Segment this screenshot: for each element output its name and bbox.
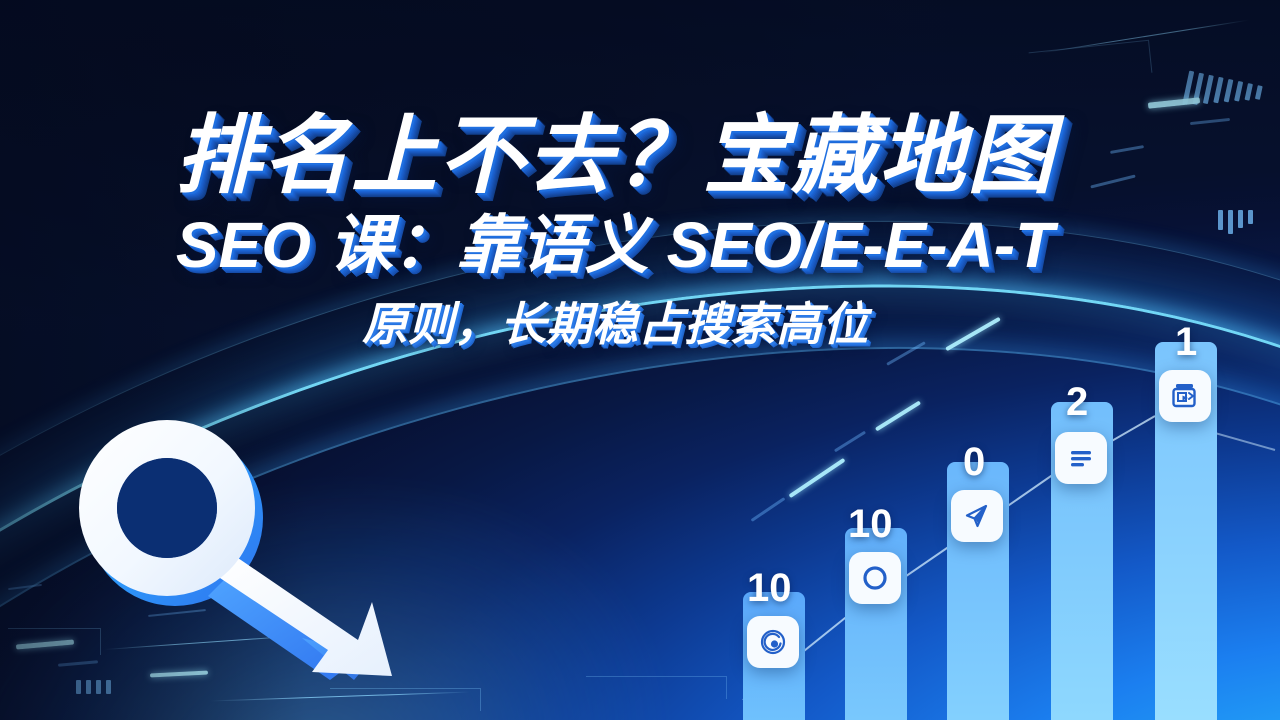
window-chart-icon xyxy=(1159,370,1211,422)
swirl-circle-icon xyxy=(747,616,799,668)
subtitle-primary: SEO 课：靠语义 SEO/E-E-A-T xyxy=(0,207,1230,284)
bar-label-2: 10 xyxy=(848,504,893,544)
poster-canvas: 排名上不去？宝藏地图 SEO 课：靠语义 SEO/E-E-A-T 原则，长期稳占… xyxy=(0,0,1280,720)
hud-step-mid xyxy=(330,688,481,711)
bar-label-5: 1 xyxy=(1175,322,1197,362)
bar-label-4: 2 xyxy=(1066,382,1088,422)
paper-plane-icon xyxy=(951,490,1003,542)
growth-bar-chart: 10 10 0 2 1 xyxy=(735,300,1280,720)
ring-circle-icon xyxy=(849,552,901,604)
hud-step-right xyxy=(586,676,727,699)
magnifier-arrow-icon xyxy=(62,388,402,688)
bar-label-1: 10 xyxy=(747,568,792,608)
document-lines-icon xyxy=(1055,432,1107,484)
page-title: 排名上不去？宝藏地图 xyxy=(0,112,1230,201)
bar-label-3: 0 xyxy=(963,442,985,482)
